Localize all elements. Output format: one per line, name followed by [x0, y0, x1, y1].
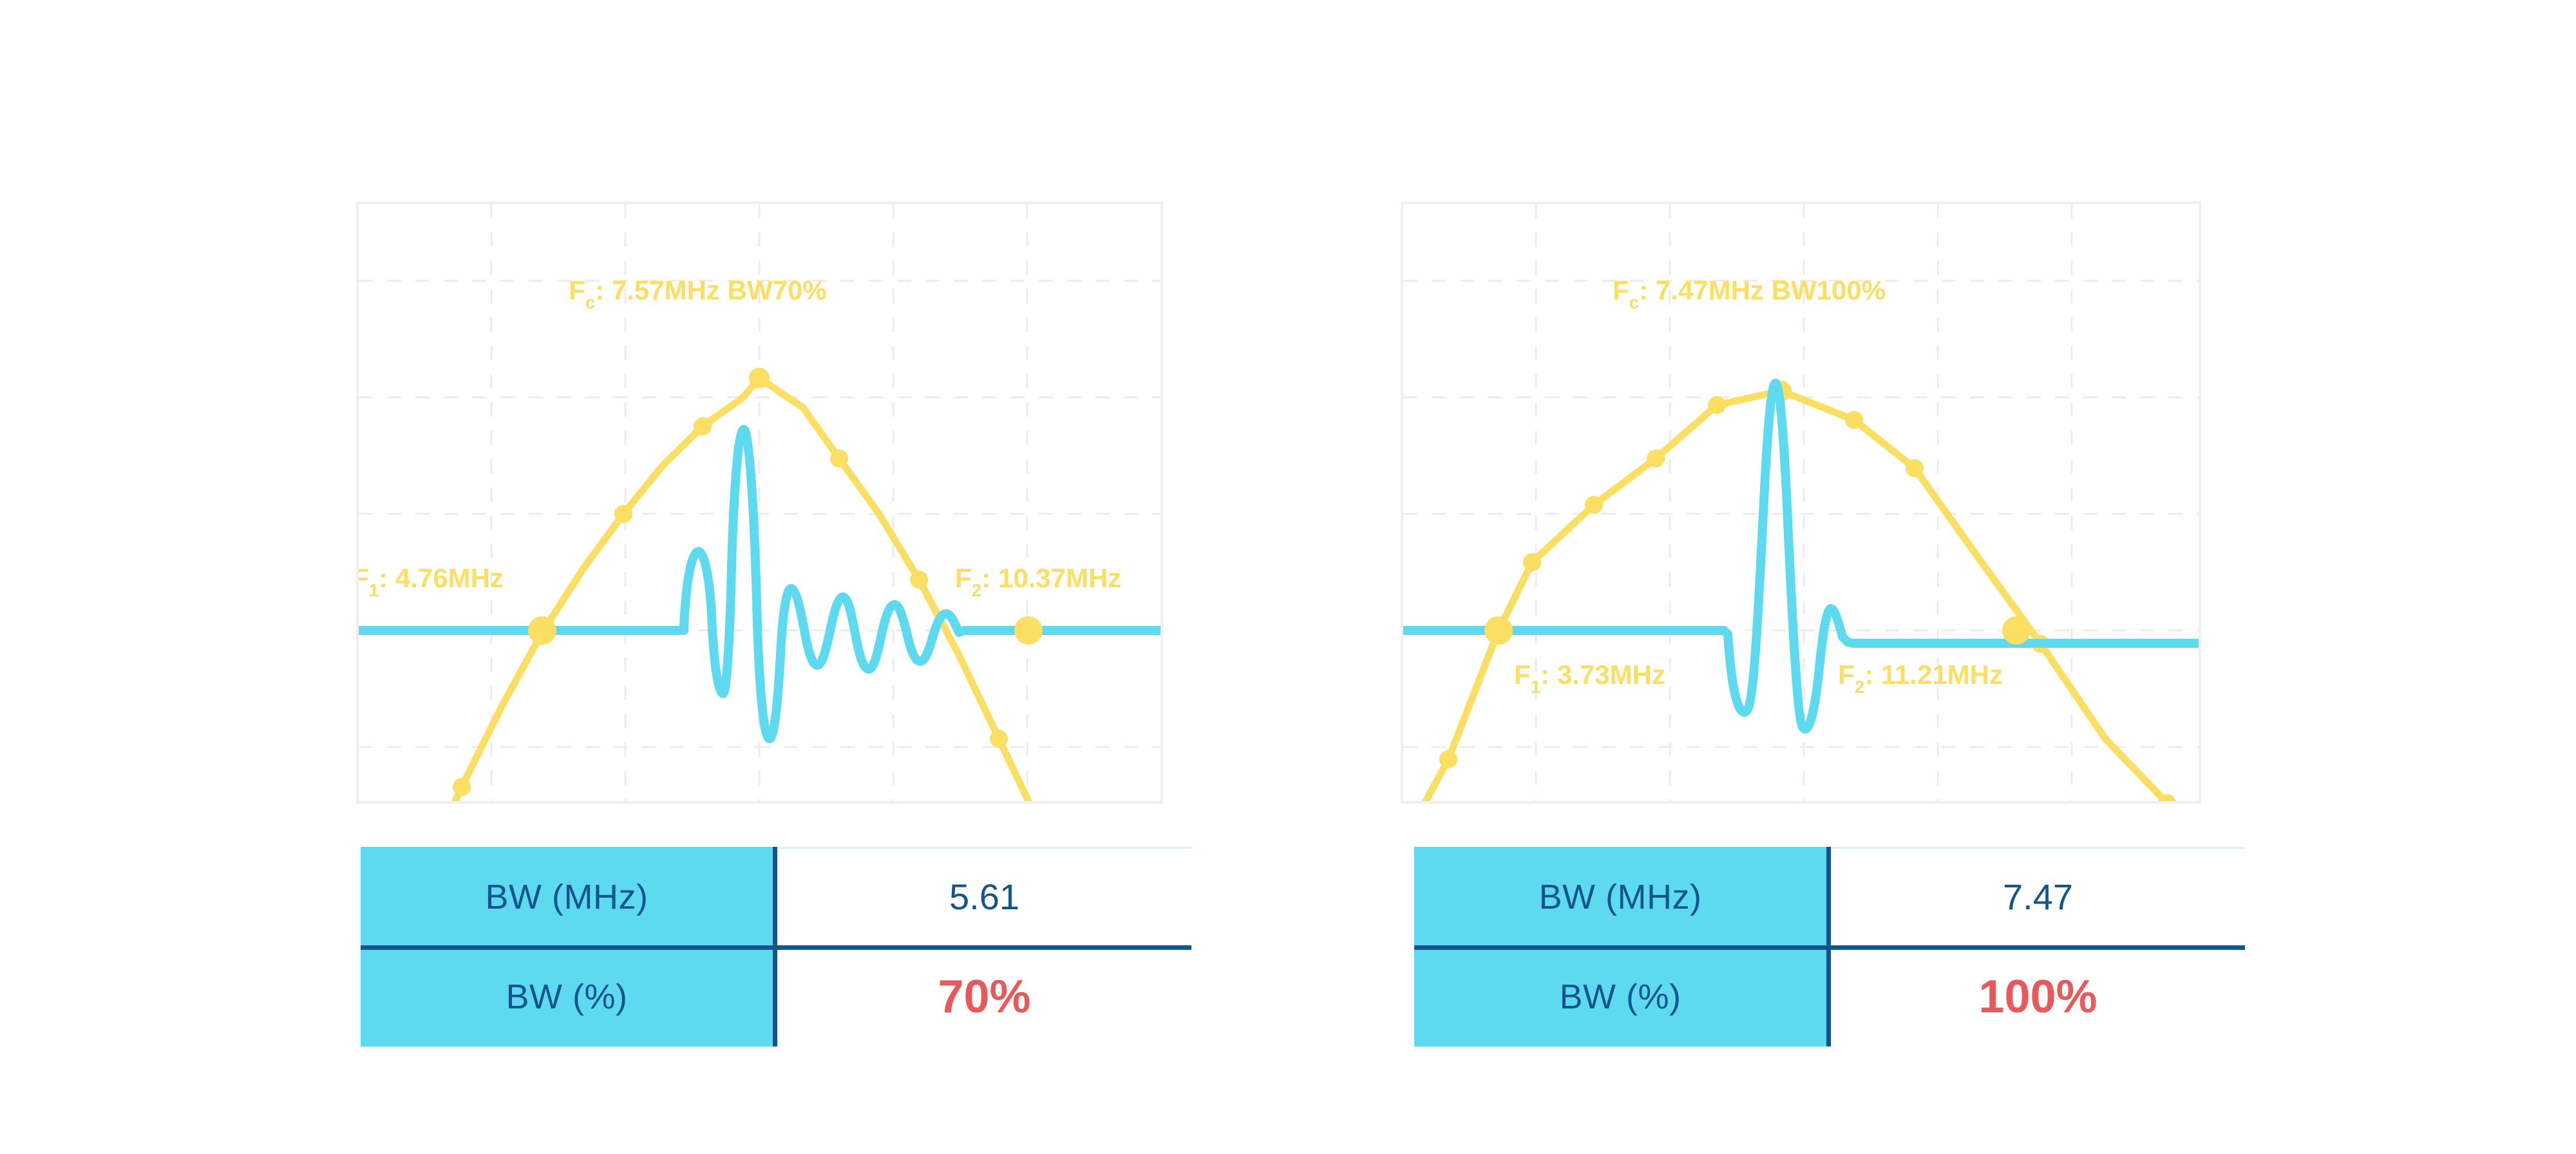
- table-row: BW (MHz) 5.61: [361, 847, 1191, 947]
- bw-mhz-value: 7.47: [1831, 847, 2245, 947]
- marker-f1-left: [528, 616, 556, 645]
- bw-table-right: BW (MHz) 7.47 BW (%) 100%: [1414, 847, 2245, 1046]
- table-top-rule: [1831, 847, 2245, 849]
- bw-table-left: BW (MHz) 5.61 BW (%) 70%: [361, 847, 1191, 1046]
- bw-pct-label: BW (%): [361, 947, 773, 1046]
- column-divider: [773, 947, 777, 1046]
- annotation-fc-right: Fc: 7.47MHz BW100%: [1613, 275, 1886, 312]
- bw-pct-label: BW (%): [1414, 947, 1826, 1046]
- marker-f1-right: [1484, 616, 1513, 645]
- chart-svg-right: Fc: 7.47MHz BW100% F1: 3.73MHz F2: 11.21…: [1403, 204, 2199, 801]
- chart-svg-left: Fc: 7.57MHz BW70% F1: 4.76MHz F2: 10.37M…: [359, 204, 1160, 801]
- spectrum-curve-left: [422, 378, 1028, 801]
- marker-f2-right: [2002, 616, 2031, 645]
- table-top-rule: [777, 847, 1191, 849]
- bw-mhz-value: 5.61: [777, 847, 1191, 947]
- panel-left: Fc: 7.57MHz BW70% F1: 4.76MHz F2: 10.37M…: [0, 0, 1288, 1154]
- column-divider: [773, 847, 777, 947]
- table-row: BW (%) 70%: [361, 947, 1191, 1046]
- annotation-f1-left: F1: 4.76MHz: [359, 563, 504, 600]
- bw-pct-value: 100%: [1831, 947, 2245, 1046]
- bw-mhz-label: BW (MHz): [361, 847, 773, 947]
- bw-mhz-label: BW (MHz): [1414, 847, 1826, 947]
- column-divider: [1826, 947, 1831, 1046]
- marker-f2-left: [1014, 616, 1043, 645]
- annotation-fc-left: Fc: 7.57MHz BW70%: [569, 275, 827, 312]
- table-middle-rule: [1414, 945, 2245, 950]
- chart-frame-left: Fc: 7.57MHz BW70% F1: 4.76MHz F2: 10.37M…: [356, 202, 1163, 804]
- table-row: BW (%) 100%: [1414, 947, 2245, 1046]
- chart-frame-right: Fc: 7.47MHz BW100% F1: 3.73MHz F2: 11.21…: [1401, 202, 2201, 804]
- spectrum-markers-right: [1439, 381, 2176, 801]
- table-middle-rule: [361, 945, 1191, 950]
- panel-right: Fc: 7.47MHz BW100% F1: 3.73MHz F2: 11.21…: [1288, 0, 2576, 1154]
- column-divider: [1826, 847, 1831, 947]
- annotation-f2-right: F2: 11.21MHz: [1838, 659, 2003, 697]
- table-row: BW (MHz) 7.47: [1414, 847, 2245, 947]
- annotation-f2-left: F2: 10.37MHz: [955, 563, 1121, 600]
- bw-pct-value: 70%: [777, 947, 1191, 1046]
